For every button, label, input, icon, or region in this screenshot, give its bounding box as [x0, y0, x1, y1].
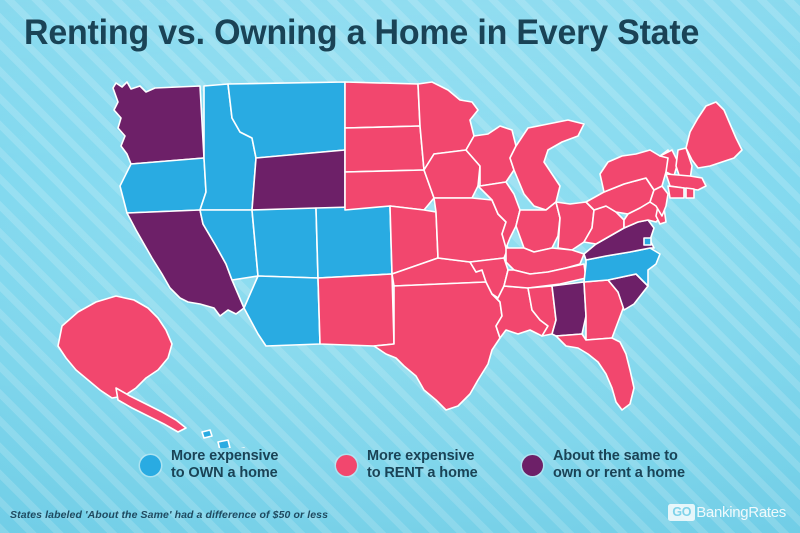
legend-swatch-own [140, 455, 161, 476]
state-SD[interactable] [345, 126, 424, 172]
gobankingrates-logo[interactable]: GO BankingRates [668, 504, 786, 521]
legend-label-rent: More expensive to RENT a home [367, 448, 478, 482]
state-WA[interactable] [113, 82, 204, 164]
state-RI[interactable] [686, 188, 694, 198]
infographic-canvas: Renting vs. Owning a Home in Every State [0, 0, 800, 533]
state-HI-1 [202, 430, 212, 438]
us-choropleth-map [0, 58, 800, 448]
legend-label-same: About the same to own or rent a home [553, 448, 685, 482]
legend-item-same[interactable]: About the same to own or rent a home [522, 448, 762, 482]
page-title: Renting vs. Owning a Home in Every State [24, 12, 761, 54]
state-HI-2 [218, 440, 230, 448]
state-AK[interactable] [58, 296, 172, 398]
state-AZ[interactable] [244, 276, 320, 346]
state-OR[interactable] [120, 158, 206, 213]
footnote: States labeled 'About the Same' had a di… [10, 509, 328, 521]
legend: More expensive to OWN a home More expens… [140, 448, 780, 494]
state-AL[interactable] [552, 282, 586, 336]
state-MI[interactable] [510, 120, 584, 210]
state-UT[interactable] [252, 208, 318, 278]
state-CT[interactable] [668, 186, 684, 198]
legend-swatch-same [522, 455, 543, 476]
state-AK-tail [116, 388, 186, 432]
state-TX[interactable] [374, 282, 502, 410]
map-svg [0, 58, 800, 448]
logo-go-mark: GO [668, 504, 695, 521]
state-FL[interactable] [556, 334, 634, 410]
logo-wordmark: BankingRates [696, 505, 786, 521]
state-ND[interactable] [345, 82, 420, 128]
state-CO[interactable] [316, 206, 392, 278]
state-NE[interactable] [345, 170, 434, 210]
state-NM[interactable] [318, 274, 394, 346]
state-WY[interactable] [252, 150, 345, 210]
legend-swatch-rent [336, 455, 357, 476]
legend-label-own: More expensive to OWN a home [171, 448, 278, 482]
state-IN[interactable] [516, 202, 560, 252]
legend-item-rent[interactable]: More expensive to RENT a home [336, 448, 522, 482]
state-DC [644, 238, 651, 245]
state-ME[interactable] [686, 102, 742, 168]
legend-item-own[interactable]: More expensive to OWN a home [140, 448, 336, 482]
